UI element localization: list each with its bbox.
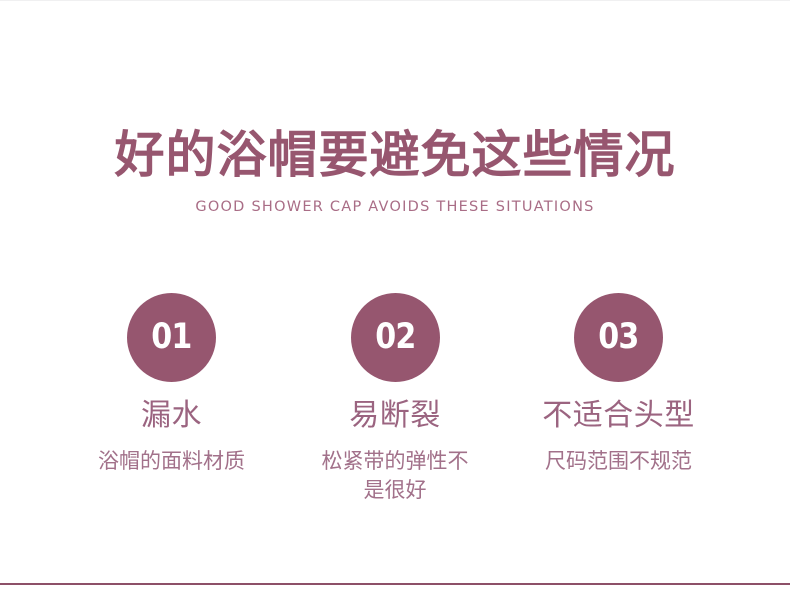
feature-heading: 易断裂 xyxy=(349,398,441,434)
number-badge-03: 03 xyxy=(574,293,663,382)
feature-column: 01 漏水 浴帽的面料材质 xyxy=(60,293,283,476)
feature-columns: 01 漏水 浴帽的面料材质 02 易断裂 松紧带的弹性不是很好 03 不适合头型… xyxy=(60,293,730,505)
feature-description: 尺码范围不规范 xyxy=(545,447,692,476)
feature-heading: 漏水 xyxy=(141,398,202,434)
feature-description: 浴帽的面料材质 xyxy=(98,447,245,476)
top-hairline-divider xyxy=(0,0,790,1)
bottom-divider xyxy=(0,583,790,585)
header-block: 好的浴帽要避免这些情况 GOOD SHOWER CAP AVOIDS THESE… xyxy=(0,126,790,215)
badge-number-label: 01 xyxy=(151,320,191,355)
feature-heading: 不适合头型 xyxy=(542,398,695,434)
page-subtitle: GOOD SHOWER CAP AVOIDS THESE SITUATIONS xyxy=(0,199,790,215)
feature-column: 02 易断裂 松紧带的弹性不是很好 xyxy=(284,293,507,505)
number-badge-01: 01 xyxy=(127,293,216,382)
badge-number-label: 02 xyxy=(375,320,415,355)
feature-column: 03 不适合头型 尺码范围不规范 xyxy=(507,293,730,476)
badge-number-label: 03 xyxy=(598,320,638,355)
page-title: 好的浴帽要避免这些情况 xyxy=(0,126,790,185)
number-badge-02: 02 xyxy=(351,293,440,382)
promo-banner: 好的浴帽要避免这些情况 GOOD SHOWER CAP AVOIDS THESE… xyxy=(0,0,790,589)
feature-description: 松紧带的弹性不是很好 xyxy=(315,447,475,505)
